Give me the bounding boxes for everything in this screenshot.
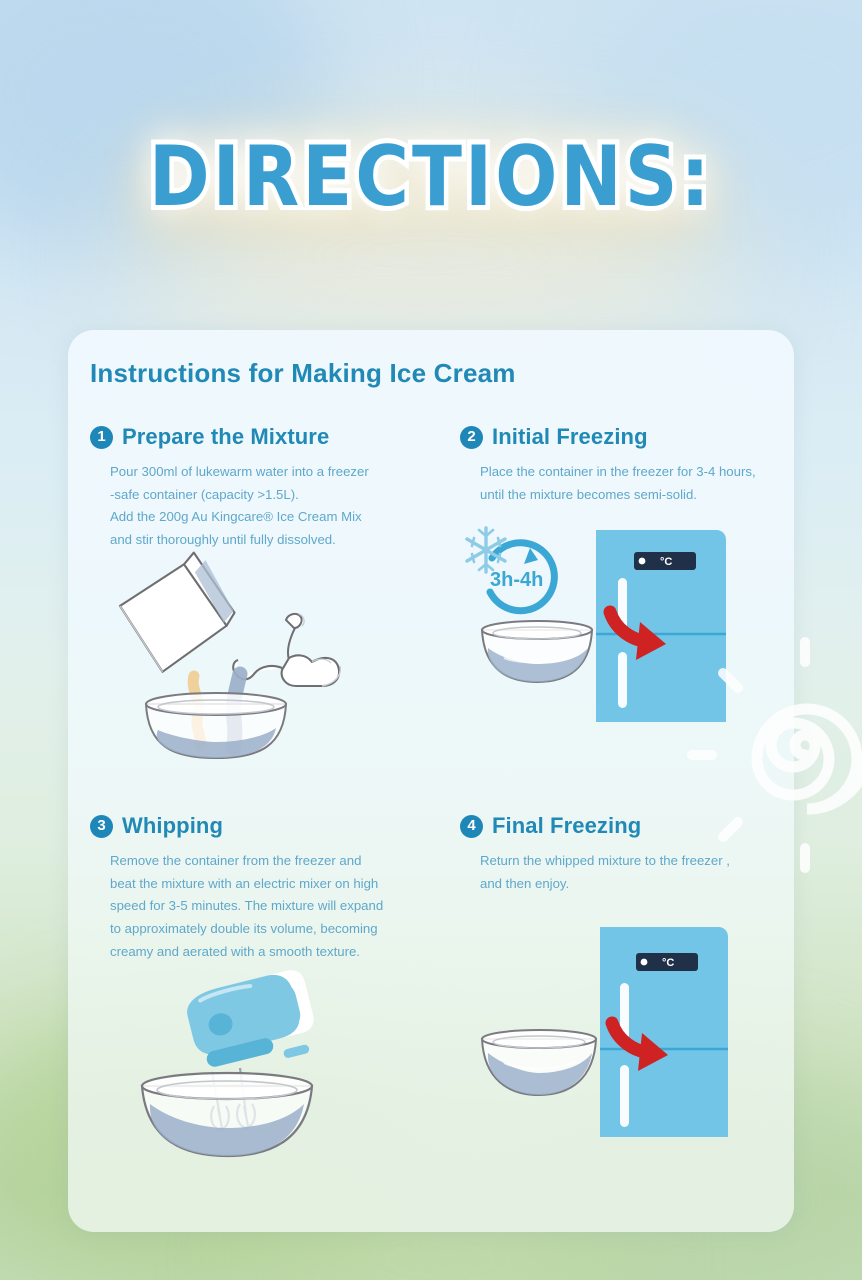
step-3-header: 3 Whipping [90, 813, 430, 839]
bowl [142, 1073, 312, 1156]
timer-label: 3h-4h [490, 569, 543, 591]
step-2-header: 2 Initial Freezing [460, 424, 780, 450]
svg-text:°C: °C [662, 957, 674, 969]
step-2-body: Place the container in the freezer for 3… [460, 461, 780, 506]
step-4-number-badge: 4 [460, 815, 483, 838]
bowl [482, 621, 592, 682]
step-2-title: Initial Freezing [492, 424, 648, 450]
step-3-number-badge: 3 [90, 815, 113, 838]
step-3-illustration [90, 976, 430, 1146]
step-2: 2 Initial Freezing Place the container i… [460, 424, 780, 728]
instructions-card: Instructions for Making Ice Cream 1 Prep… [68, 330, 794, 1232]
svg-text:°C: °C [660, 556, 672, 568]
step-2-illustration: 3h-4h °C [460, 518, 780, 728]
step-1-illustration [90, 558, 430, 758]
step-4-header: 4 Final Freezing [460, 813, 780, 839]
step-4-title: Final Freezing [492, 813, 641, 839]
bowl [482, 1030, 596, 1095]
step-1-header: 1 Prepare the Mixture [90, 424, 430, 450]
step-3-title: Whipping [122, 813, 223, 839]
page-title: DIRECTIONS: [149, 136, 713, 219]
hand-mixer [183, 967, 322, 1079]
step-4-illustration: °C [460, 913, 780, 1143]
step-3: 3 Whipping Remove the container from the… [90, 813, 430, 1146]
step-4: 4 Final Freezing Return the whipped mixt… [460, 813, 780, 1143]
step-2-number-badge: 2 [460, 426, 483, 449]
step-1-body: Pour 300ml of lukewarm water into a free… [90, 461, 430, 552]
step-1-title: Prepare the Mixture [122, 424, 329, 450]
step-3-body: Remove the container from the freezer an… [90, 850, 430, 964]
title-area: DIRECTIONS: [0, 140, 862, 214]
step-1-number-badge: 1 [90, 426, 113, 449]
page-heading: Instructions for Making Ice Cream [90, 358, 516, 389]
step-4-body: Return the whipped mixture to the freeze… [460, 850, 780, 895]
step-1: 1 Prepare the Mixture Pour 300ml of luke… [90, 424, 430, 758]
